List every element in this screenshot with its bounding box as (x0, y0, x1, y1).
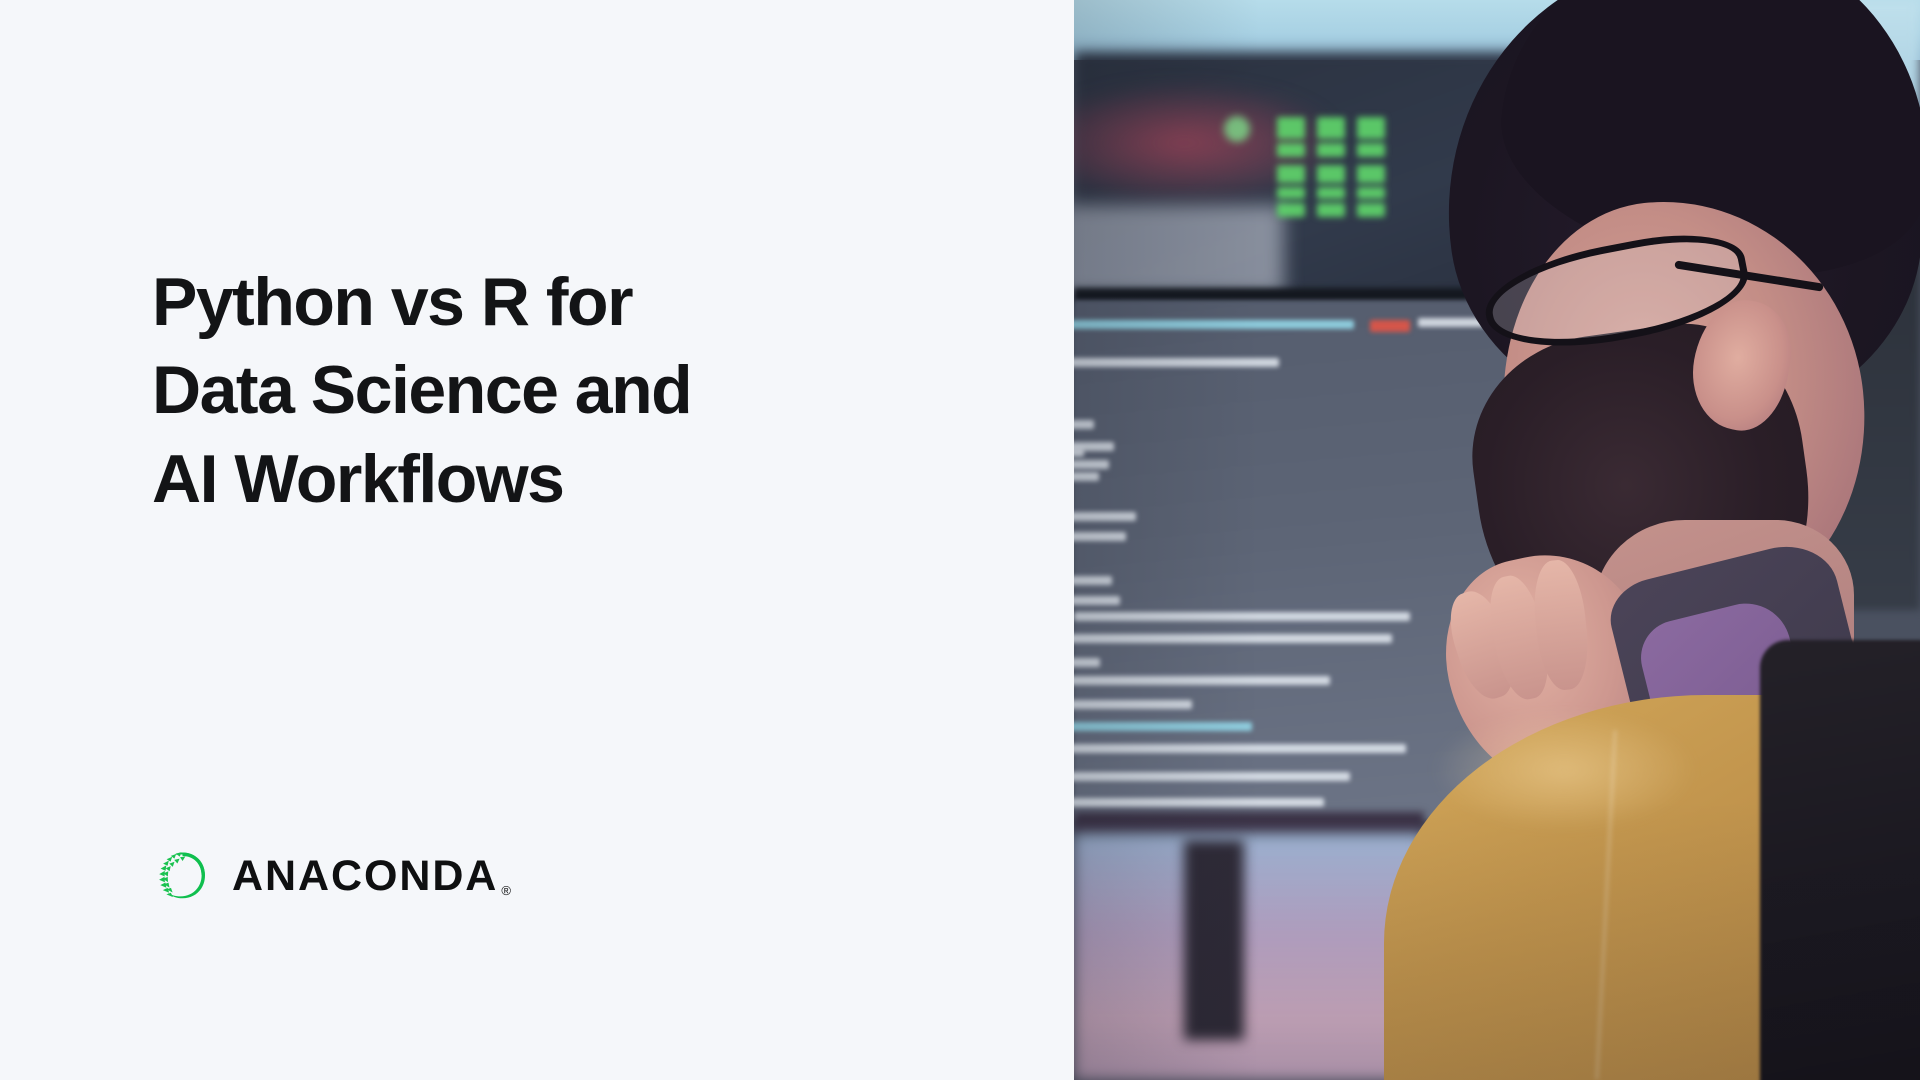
code-text-line (1074, 744, 1406, 753)
code-text-line (1074, 420, 1094, 429)
code-text-line (1370, 320, 1410, 332)
registered-trademark-mark: ® (501, 884, 511, 897)
code-text-line (1074, 772, 1350, 781)
monitor-light-panel (1074, 205, 1284, 295)
code-text-line (1074, 798, 1324, 807)
code-text-line (1074, 658, 1100, 667)
monitor-stand (1074, 812, 1424, 834)
hero-photo (1074, 0, 1920, 1080)
desk-dark-object (1184, 840, 1244, 1040)
slide-root: Python vs R for Data Science and AI Work… (0, 0, 1920, 1080)
anaconda-circle-mark-icon (152, 846, 212, 906)
code-text-line (1074, 320, 1354, 329)
terminal-green-blocks (1259, 115, 1434, 220)
anaconda-wordmark-text: ANACONDA (232, 846, 498, 906)
code-text-line (1074, 448, 1084, 457)
title-line-3: AI Workflows (152, 435, 982, 523)
shirt-highlight (1434, 710, 1694, 830)
code-text-line (1074, 676, 1330, 685)
office-chair (1760, 640, 1920, 1080)
code-text-line (1074, 532, 1126, 541)
code-text-line (1074, 358, 1279, 367)
code-text-line (1074, 512, 1136, 521)
code-text-line (1074, 460, 1109, 469)
code-text-line (1074, 700, 1192, 709)
page-title: Python vs R for Data Science and AI Work… (152, 258, 982, 523)
photo-stage (1074, 0, 1920, 1080)
title-line-2: Data Science and (152, 346, 982, 434)
anaconda-logo[interactable]: ANACONDA ® (152, 845, 511, 907)
desk-background (1074, 834, 1424, 1080)
code-text-line (1074, 634, 1392, 643)
anaconda-wordmark: ANACONDA ® (232, 846, 511, 906)
code-text-line (1074, 722, 1252, 731)
title-line-1: Python vs R for (152, 258, 982, 346)
code-text-line (1074, 576, 1112, 585)
content-panel: Python vs R for Data Science and AI Work… (0, 0, 1074, 1080)
code-text-line (1074, 596, 1120, 605)
code-text-line (1074, 612, 1410, 621)
code-text-line (1074, 472, 1099, 481)
terminal-green-dot (1224, 116, 1250, 142)
